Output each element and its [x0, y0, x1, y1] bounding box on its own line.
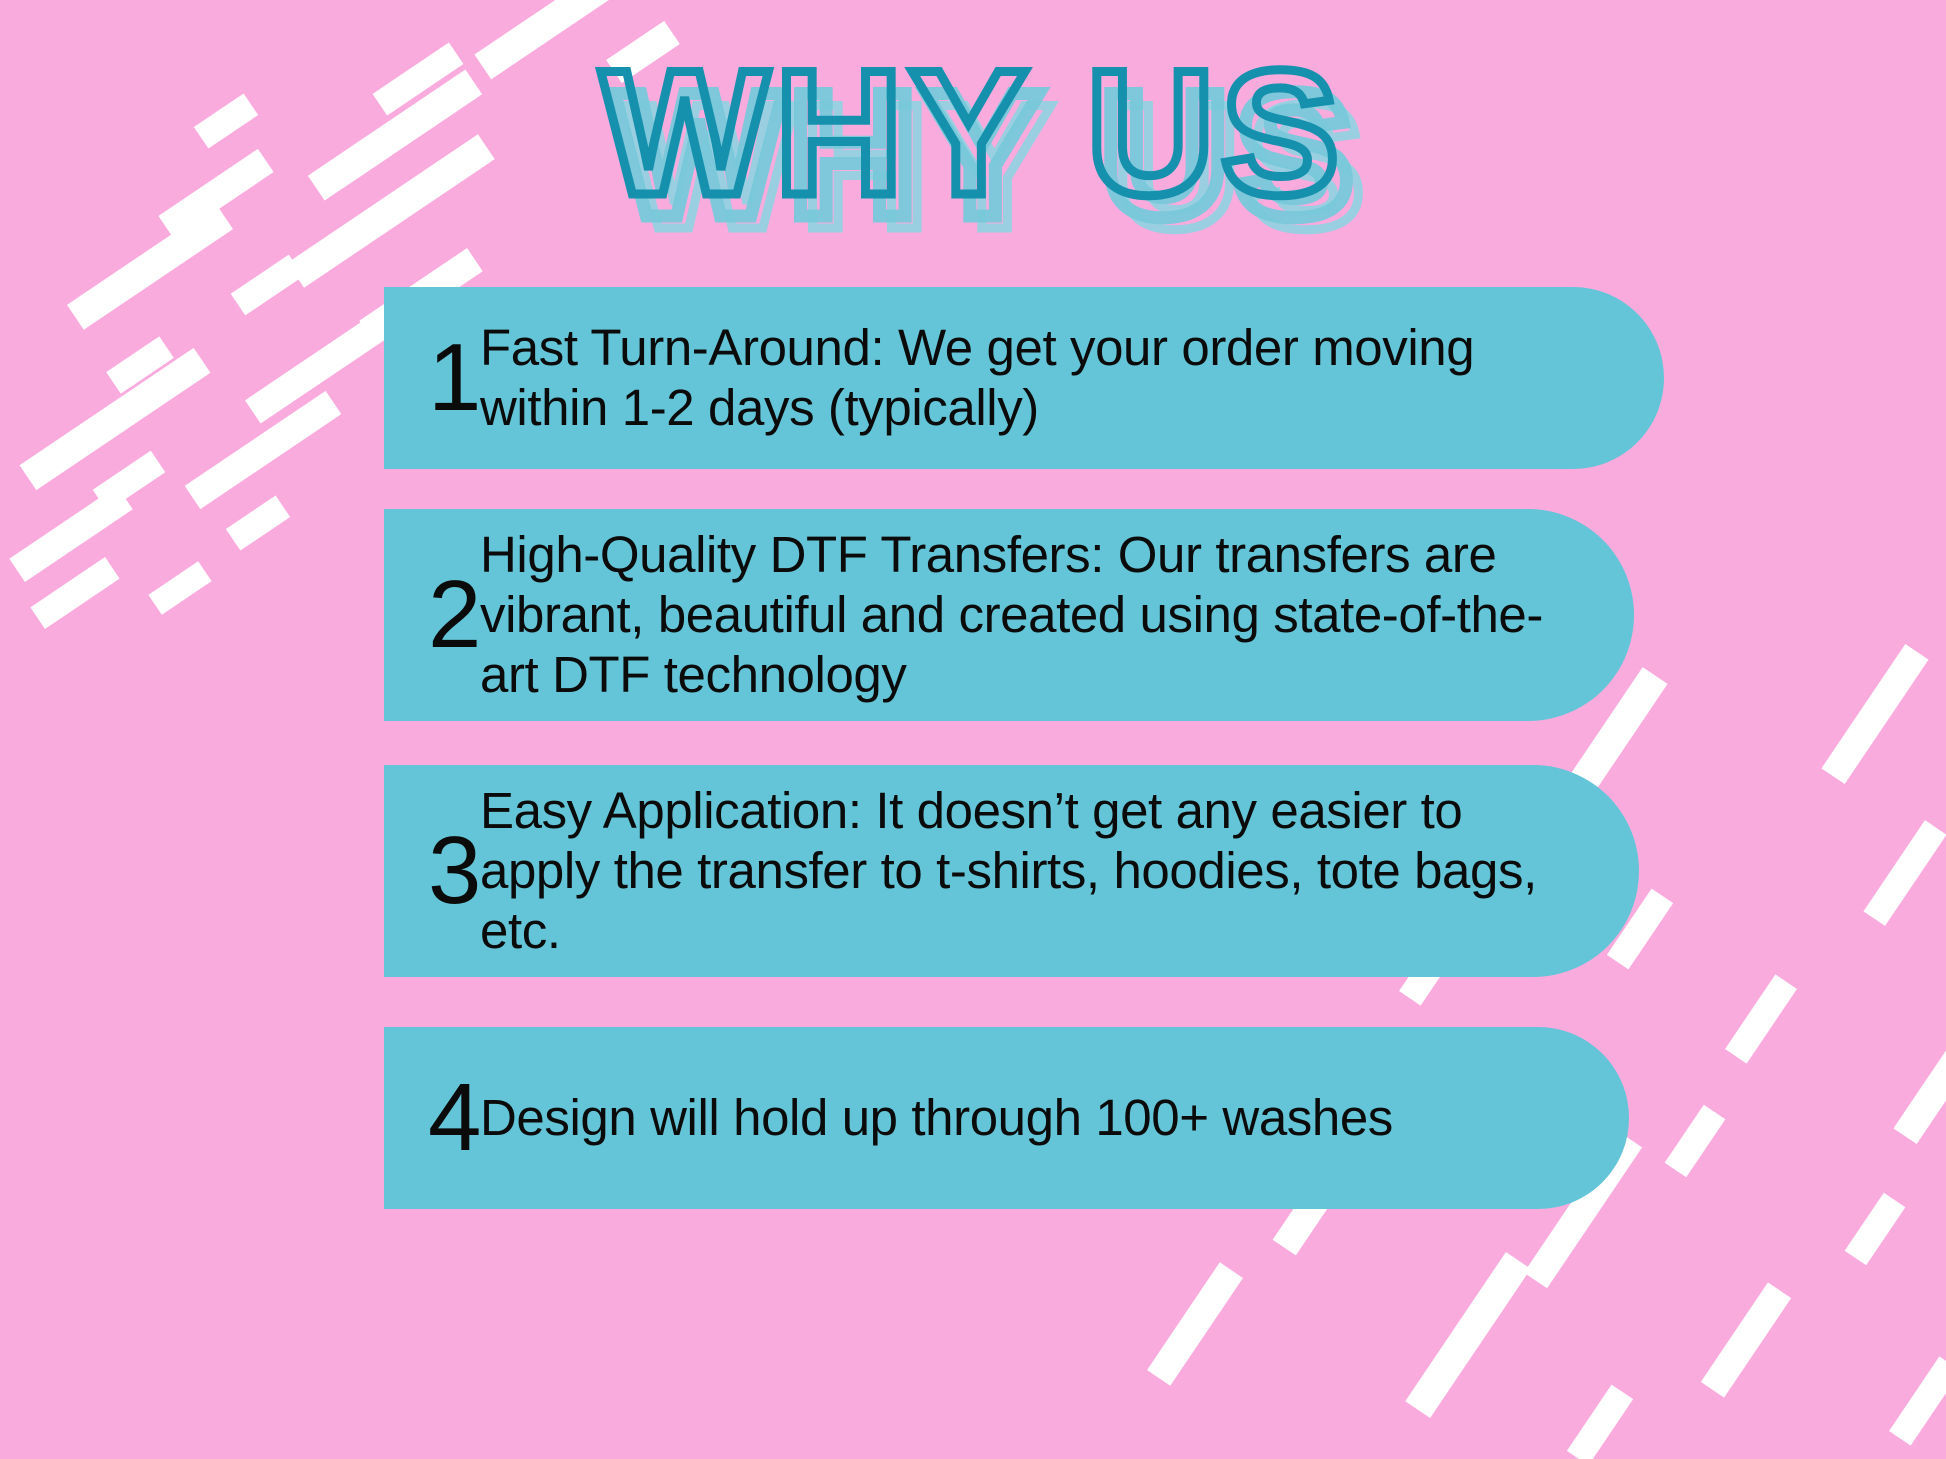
card-text: High-Quality DTF Transfers: Our transfer… [480, 525, 1634, 706]
poster-canvas: WHY US WHY US WHY US 1Fast Turn-Around: … [0, 0, 1946, 1459]
title-outline: WHY US [601, 44, 1346, 222]
top-left-stripe [245, 316, 385, 423]
title-stack: WHY US WHY US WHY US [601, 44, 1346, 222]
benefit-card-2: 2High-Quality DTF Transfers: Our transfe… [384, 509, 1634, 721]
card-text: Easy Application: It doesn’t get any eas… [480, 781, 1639, 962]
top-left-stripe [226, 495, 290, 550]
card-number: 4 [384, 1070, 480, 1166]
bottom-right-stripe [1845, 1193, 1906, 1266]
card-number: 2 [384, 567, 480, 663]
bottom-right-stripe [1889, 1356, 1946, 1445]
top-left-stripe [231, 255, 304, 316]
bottom-right-stripe [1821, 644, 1928, 784]
bottom-right-stripe [1567, 1385, 1633, 1459]
bottom-right-stripe [1863, 820, 1946, 926]
bottom-right-stripe [1701, 1282, 1791, 1397]
benefit-card-1: 1Fast Turn-Around: We get your order mov… [384, 287, 1664, 469]
card-number: 1 [384, 330, 480, 426]
bottom-right-stripe [1665, 1105, 1726, 1178]
benefit-card-4: 4Design will hold up through 100+ washes [384, 1027, 1629, 1209]
bottom-right-stripe [1725, 974, 1797, 1063]
card-text: Fast Turn-Around: We get your order movi… [480, 318, 1664, 438]
bottom-right-stripe [1405, 1252, 1531, 1418]
top-left-stripe [20, 348, 211, 490]
top-left-stripe [185, 391, 342, 509]
top-left-stripe [93, 451, 166, 512]
top-left-stripe [148, 561, 211, 614]
card-number: 3 [384, 823, 480, 919]
bottom-right-stripe [1147, 1262, 1243, 1385]
page-title: WHY US WHY US WHY US [0, 44, 1946, 234]
top-left-stripe [9, 486, 132, 582]
card-text: Design will hold up through 100+ washes [480, 1088, 1629, 1148]
top-left-stripe [30, 557, 119, 629]
top-left-stripe [106, 336, 174, 393]
bottom-right-stripe [1893, 1004, 1946, 1144]
benefit-card-3: 3Easy Application: It doesn’t get any ea… [384, 765, 1639, 977]
